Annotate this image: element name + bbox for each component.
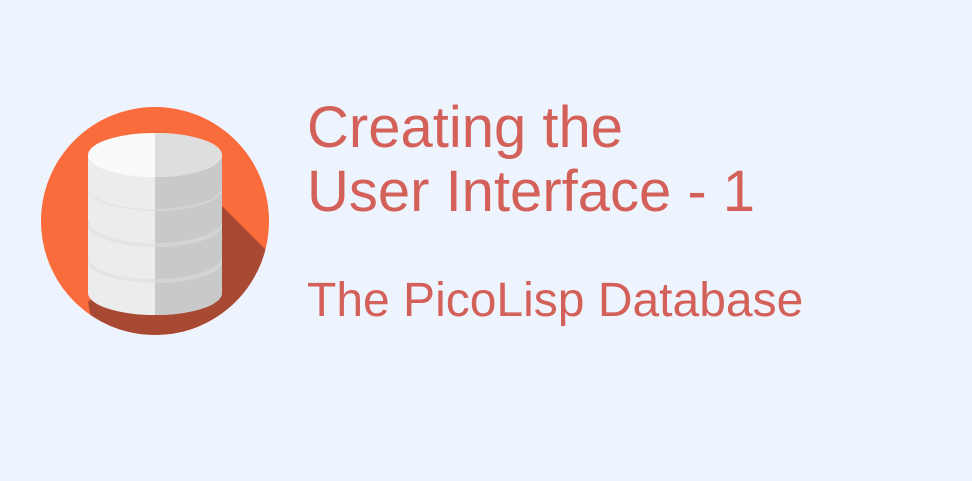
- database-icon: [40, 106, 270, 336]
- slide-canvas: Creating the User Interface - 1 The Pico…: [0, 0, 972, 481]
- db-disk-top: [88, 133, 222, 209]
- database-cylinder: [88, 133, 222, 315]
- slide-text-block: Creating the User Interface - 1 The Pico…: [307, 96, 947, 328]
- page-subtitle: The PicoLisp Database: [307, 224, 947, 328]
- page-title: Creating the User Interface - 1: [307, 96, 947, 224]
